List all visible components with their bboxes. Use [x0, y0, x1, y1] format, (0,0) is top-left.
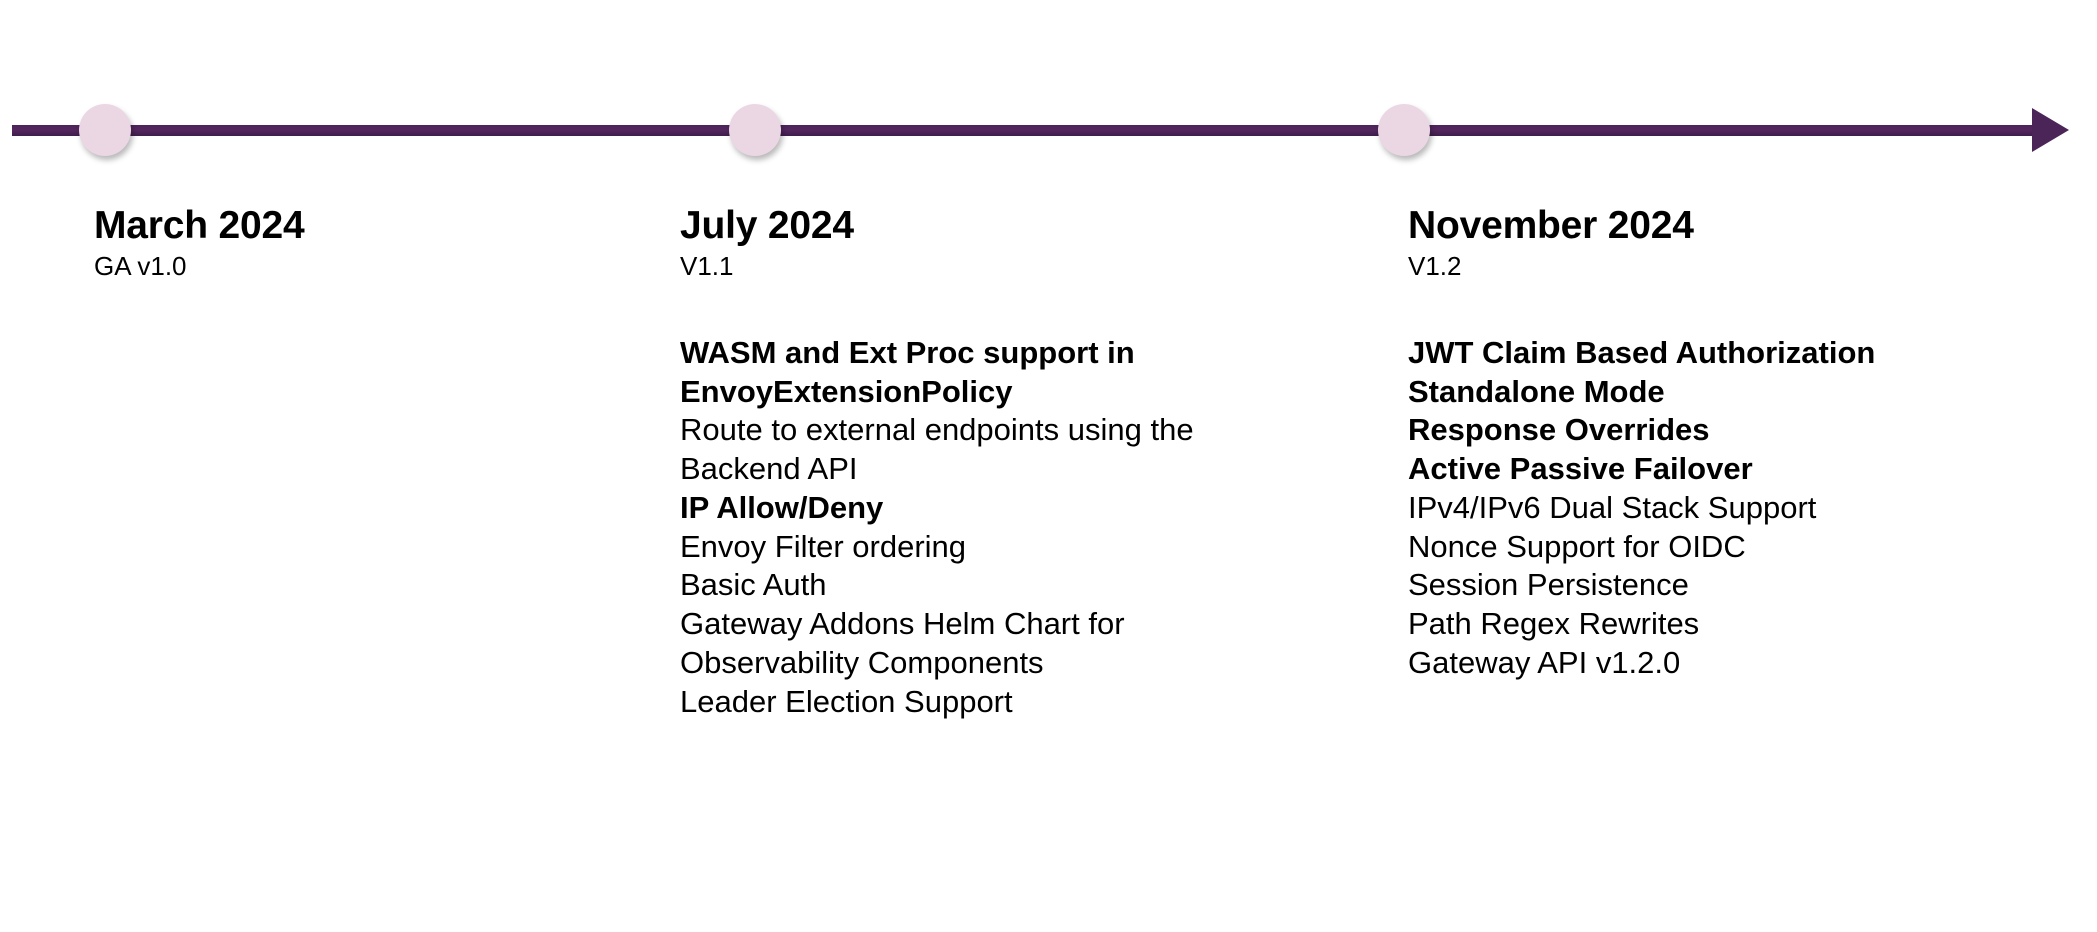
milestone-column-july-2024: July 2024 V1.1 WASM and Ext Proc support… — [680, 205, 1300, 721]
feature-item: Gateway API v1.2.0 — [1408, 644, 2008, 683]
feature-item: IP Allow/Deny — [680, 489, 1300, 528]
milestone-columns: March 2024 GA v1.0 July 2024 V1.1 WASM a… — [0, 0, 2097, 932]
feature-item: WASM and Ext Proc support in EnvoyExtens… — [680, 334, 1300, 412]
feature-list-november-2024: JWT Claim Based AuthorizationStandalone … — [1408, 334, 2008, 683]
feature-item: Gateway Addons Helm Chart for Observabil… — [680, 605, 1300, 683]
feature-item: Basic Auth — [680, 566, 1300, 605]
milestone-column-november-2024: November 2024 V1.2 JWT Claim Based Autho… — [1408, 205, 2008, 683]
milestone-date-label: March 2024 — [94, 205, 654, 247]
feature-item: Path Regex Rewrites — [1408, 605, 2008, 644]
milestone-version-label: V1.2 — [1408, 251, 2008, 282]
milestone-column-march-2024: March 2024 GA v1.0 — [94, 205, 654, 334]
feature-item: Standalone Mode — [1408, 373, 2008, 412]
feature-item: Route to external endpoints using the Ba… — [680, 411, 1300, 489]
feature-item: IPv4/IPv6 Dual Stack Support — [1408, 489, 2008, 528]
feature-item: Nonce Support for OIDC — [1408, 528, 2008, 567]
timeline-diagram: March 2024 GA v1.0 July 2024 V1.1 WASM a… — [0, 0, 2097, 932]
feature-item: Active Passive Failover — [1408, 450, 2008, 489]
feature-item: Session Persistence — [1408, 566, 2008, 605]
feature-list-july-2024: WASM and Ext Proc support in EnvoyExtens… — [680, 334, 1300, 722]
feature-item: Leader Election Support — [680, 683, 1300, 722]
milestone-date-label: July 2024 — [680, 205, 1300, 247]
feature-item: Response Overrides — [1408, 411, 2008, 450]
milestone-version-label: V1.1 — [680, 251, 1300, 282]
feature-item: JWT Claim Based Authorization — [1408, 334, 2008, 373]
milestone-date-label: November 2024 — [1408, 205, 2008, 247]
feature-item: Envoy Filter ordering — [680, 528, 1300, 567]
milestone-version-label: GA v1.0 — [94, 251, 654, 282]
